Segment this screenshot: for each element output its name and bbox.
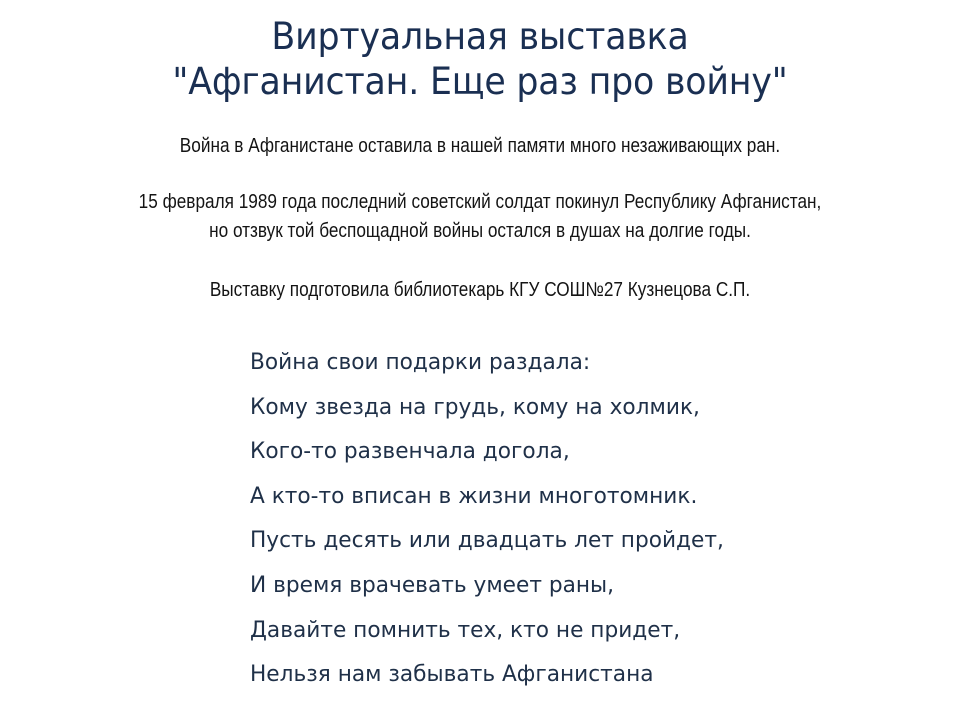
- intro-paragraph-2-line-1: 15 февраля 1989 года последний советский…: [67, 188, 893, 217]
- intro-paragraph-1: Война в Афганистане оставила в нашей пам…: [0, 132, 960, 161]
- intro-paragraph-3-credit: Выставку подготовила библиотекарь КГУ СО…: [0, 276, 960, 305]
- slide-title: Виртуальная выставка "Афганистан. Еще ра…: [0, 14, 960, 104]
- intro-paragraph-1-line-1: Война в Афганистане оставила в нашей пам…: [67, 132, 893, 161]
- presentation-slide: Виртуальная выставка "Афганистан. Еще ра…: [0, 0, 960, 720]
- poem-line-2: Кому звезда на грудь, кому на холмик,: [250, 386, 802, 431]
- poem-line-8: Нельзя нам забывать Афганистана: [250, 653, 802, 698]
- poem-block: Война свои подарки раздала: Кому звезда …: [250, 341, 810, 698]
- poem-line-4: А кто-то вписан в жизни многотомник.: [250, 475, 802, 520]
- intro-paragraph-2: 15 февраля 1989 года последний советский…: [0, 188, 960, 246]
- poem-line-3: Кого-то развенчала догола,: [250, 430, 802, 475]
- credit-line: Выставку подготовила библиотекарь КГУ СО…: [67, 276, 893, 305]
- poem-line-6: И время врачевать умеет раны,: [250, 564, 802, 609]
- poem-line-7: Давайте помнить тех, кто не придет,: [250, 609, 802, 654]
- poem-line-5: Пусть десять или двадцать лет пройдет,: [250, 519, 802, 564]
- intro-paragraph-2-line-2: но отзвук той беспощадной войны остался …: [67, 217, 893, 246]
- title-line-1: Виртуальная выставка: [29, 14, 931, 59]
- title-line-2: "Афганистан. Еще раз про войну": [29, 59, 931, 104]
- poem-line-1: Война свои подарки раздала:: [250, 341, 802, 386]
